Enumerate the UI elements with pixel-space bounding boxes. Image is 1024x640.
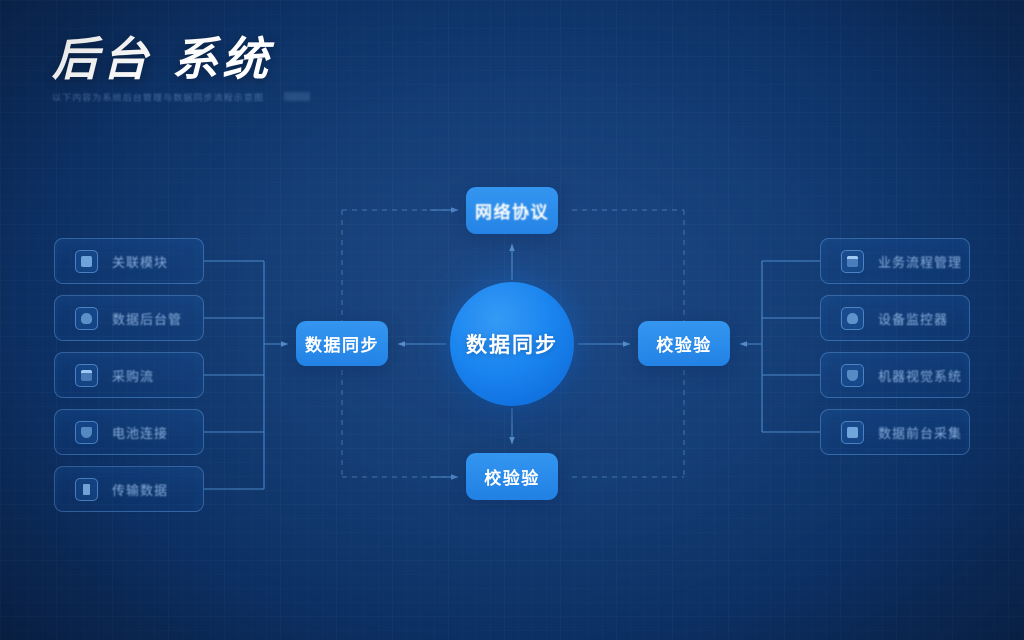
battery-icon [75,421,98,444]
list-item-label: 数据前台采集 [878,423,962,442]
clipboard-icon [841,250,864,273]
list-item-label: 设备监控器 [878,309,948,328]
document-list-icon [75,364,98,387]
list-item[interactable]: 关联模块 [54,238,204,284]
list-item[interactable]: 采购流 [54,352,204,398]
list-item[interactable]: 电池连接 [54,409,204,455]
square-module-icon [75,250,98,273]
list-item[interactable]: 数据后台管 [54,295,204,341]
list-item[interactable]: 设备监控器 [820,295,970,341]
sync-flow-diagram: 关联模块 数据后台管 采购流 电池连接 传输数据 业务流程管理 设备监控器 [0,0,1024,640]
list-item-label: 采购流 [112,366,154,385]
list-item-label: 机器视觉系统 [878,366,962,385]
edit-pen-icon [75,307,98,330]
transfer-icon [75,478,98,501]
camera-icon [841,364,864,387]
node-top[interactable]: 网络协议 [466,187,558,234]
node-top-label: 网络协议 [475,198,549,223]
list-item-label: 业务流程管理 [878,252,962,271]
globe-icon [841,421,864,444]
list-item[interactable]: 传输数据 [54,466,204,512]
list-item-label: 电池连接 [112,423,168,442]
list-item[interactable]: 机器视觉系统 [820,352,970,398]
node-bottom-label: 校验验 [484,464,540,489]
node-bottom[interactable]: 校验验 [466,453,558,500]
node-left-label: 数据同步 [305,331,379,356]
monitor-icon [841,307,864,330]
list-item[interactable]: 数据前台采集 [820,409,970,455]
list-item[interactable]: 业务流程管理 [820,238,970,284]
slide-canvas: 后台 系统 以下内容为系统后台管理与数据同步流程示意图 [0,0,1024,640]
list-item-label: 数据后台管 [112,309,182,328]
node-right-label: 校验验 [656,331,712,356]
list-item-label: 关联模块 [112,252,168,271]
center-node[interactable]: 数据同步 [450,282,574,406]
node-right[interactable]: 校验验 [638,321,730,366]
center-node-label: 数据同步 [466,329,558,359]
node-left[interactable]: 数据同步 [296,321,388,366]
list-item-label: 传输数据 [112,480,168,499]
